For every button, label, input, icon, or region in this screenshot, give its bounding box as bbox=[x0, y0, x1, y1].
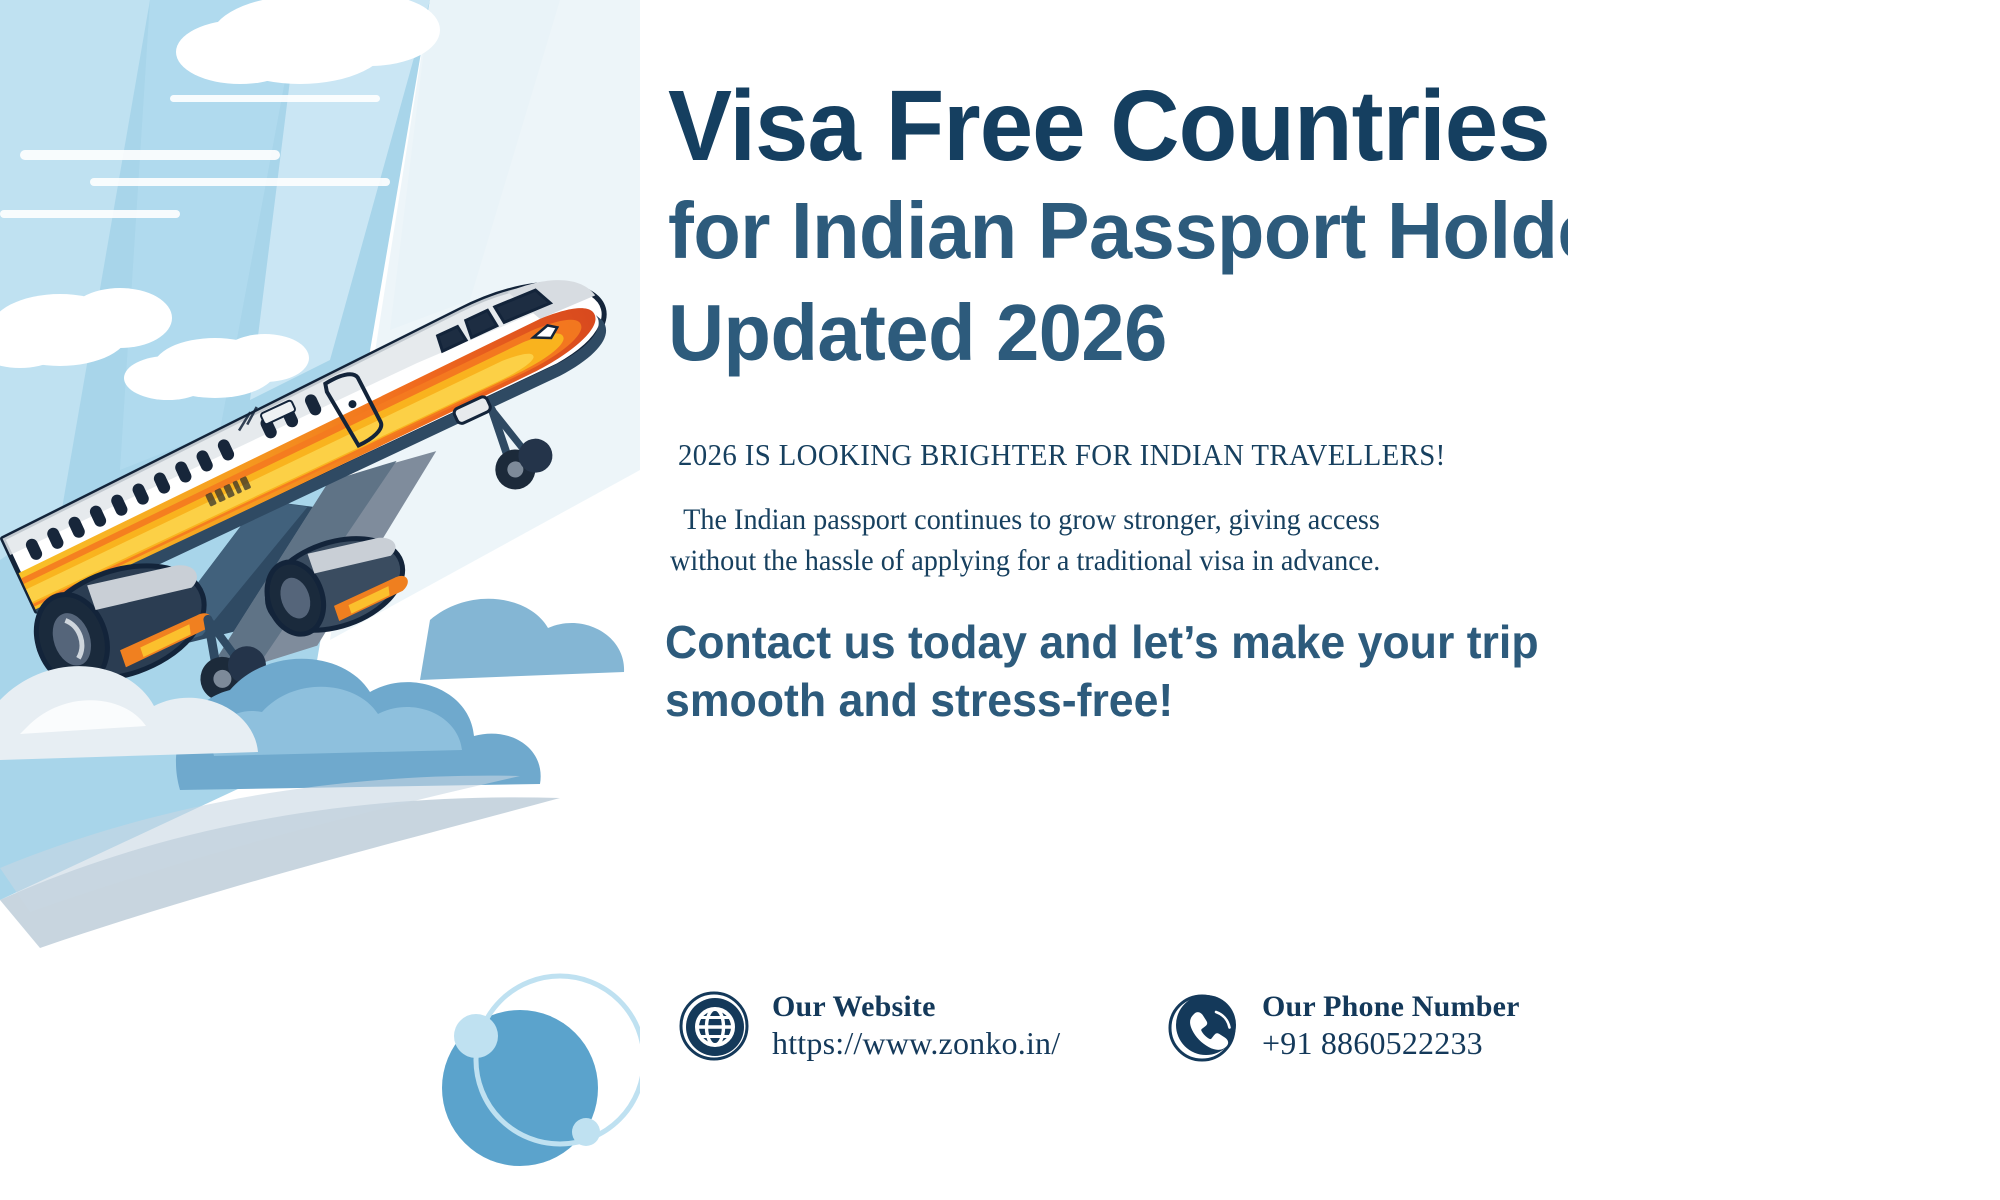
phone-icon bbox=[1168, 990, 1240, 1062]
contact-bar: Our Website https://www.zonko.in/ Our Ph… bbox=[668, 990, 1568, 1100]
description-paragraph: The Indian passport continues to grow st… bbox=[670, 500, 1568, 581]
contact-website-text: Our Website https://www.zonko.in/ bbox=[772, 990, 1060, 1061]
headline-line-3: Updated 2026 bbox=[668, 282, 1568, 384]
contact-phone-text: Our Phone Number +91 8860522233 bbox=[1262, 990, 1520, 1061]
contact-phone[interactable]: Our Phone Number +91 8860522233 bbox=[1168, 990, 1520, 1062]
contact-website-label: Our Website bbox=[772, 990, 936, 1023]
description-line-2: without the hassle of applying for a tra… bbox=[670, 541, 1568, 582]
contact-website-value[interactable]: https://www.zonko.in/ bbox=[772, 1025, 1060, 1061]
cta-line-2: smooth and stress-free! bbox=[665, 672, 1568, 730]
cta-text: Contact us today and let’s make your tri… bbox=[665, 614, 1568, 729]
cta-line-1: Contact us today and let’s make your tri… bbox=[665, 614, 1568, 672]
canvas-right-margin bbox=[1568, 0, 2000, 1200]
kicker-text: 2026 IS LOOKING BRIGHTER FOR INDIAN TRAV… bbox=[678, 437, 1568, 473]
airplane-takeoff-illustration bbox=[0, 0, 640, 1200]
page-title: Visa Free Countries for Indian Passport … bbox=[668, 72, 1568, 385]
contact-phone-label: Our Phone Number bbox=[1262, 990, 1520, 1023]
poster-canvas: Visa Free Countries for Indian Passport … bbox=[0, 0, 1568, 1200]
globe-icon bbox=[678, 990, 750, 1062]
contact-website[interactable]: Our Website https://www.zonko.in/ bbox=[678, 990, 1060, 1062]
poster-content: Visa Free Countries for Indian Passport … bbox=[640, 0, 1568, 1200]
headline-line-1: Visa Free Countries bbox=[668, 72, 1568, 180]
headline-line-2: for Indian Passport Holders bbox=[668, 180, 1568, 282]
description-line-1: The Indian passport continues to grow st… bbox=[670, 500, 1568, 541]
contact-phone-value[interactable]: +91 8860522233 bbox=[1262, 1025, 1483, 1061]
